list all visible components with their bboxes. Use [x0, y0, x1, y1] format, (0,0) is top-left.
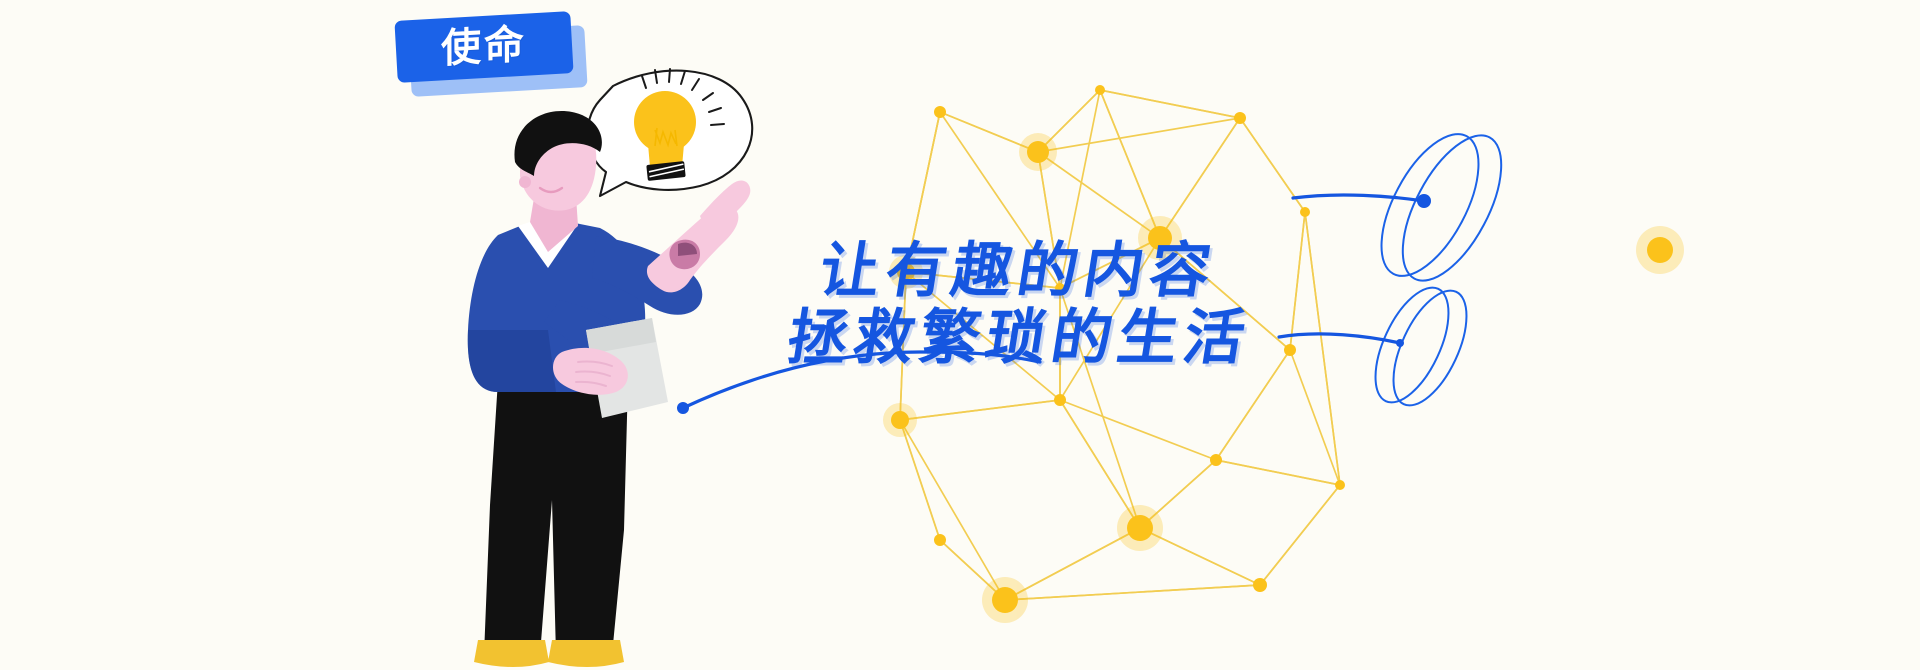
mission-badge[interactable]: 使命 [388, 8, 588, 94]
mission-badge-plate: 使命 [394, 11, 573, 83]
headline-line-1: 让有趣的内容 [815, 238, 1466, 305]
mission-badge-label: 使命 [441, 25, 527, 70]
headline-block: 让有趣的内容 拯救繁琐的生活 [820, 238, 1460, 372]
banner-canvas: 使命 让有趣的内容 拯救繁琐的生活 [0, 0, 1920, 670]
headline-line-2: 拯救繁琐的生活 [783, 305, 1466, 372]
